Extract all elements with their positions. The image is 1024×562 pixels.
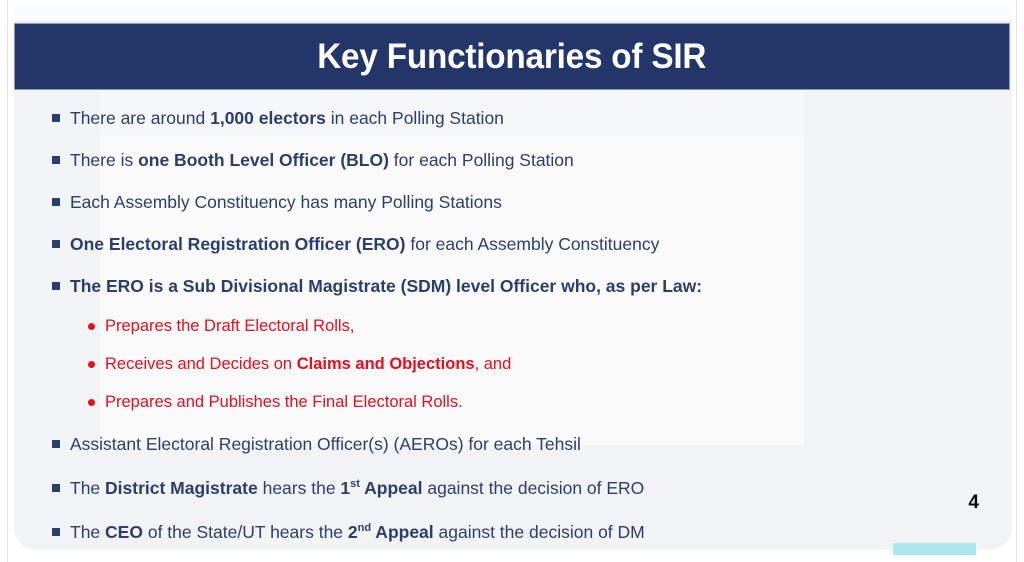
round-bullet-icon (88, 361, 95, 368)
bullet-text: Prepares the Draft Electoral Rolls, (105, 315, 354, 337)
square-bullet-icon (52, 114, 60, 122)
square-bullet-icon (52, 198, 60, 206)
slide-card: Key Functionaries of SIR There are aroun… (14, 5, 1012, 550)
text-segment: for each Assembly Constituency (405, 234, 659, 254)
bullet-item: The District Magistrate hears the 1st Ap… (14, 477, 1010, 501)
text-segment: The ERO is a Sub Divisional Magistrate (… (70, 276, 702, 296)
text-segment: hears the (258, 478, 341, 498)
bullet-text: There is one Booth Level Officer (BLO) f… (70, 149, 574, 171)
square-bullet-icon (52, 240, 60, 248)
text-segment: There is (70, 150, 138, 170)
slide-top-strip (14, 5, 1012, 22)
presentation-viewer: Key Functionaries of SIR There are aroun… (0, 0, 1024, 562)
bullet-text: One Electoral Registration Officer (ERO)… (70, 233, 659, 255)
text-segment: one Booth Level Officer (BLO) (138, 150, 389, 170)
text-segment: One Electoral Registration Officer (ERO) (70, 234, 405, 254)
text-segment: 2 (348, 522, 358, 542)
viewport-left-rule (7, 0, 8, 562)
text-segment: Prepares the Draft Electoral Rolls, (105, 317, 354, 335)
bullet-text: Each Assembly Constituency has many Poll… (70, 191, 502, 213)
text-segment: Appeal (371, 522, 434, 542)
text-segment: There are around (70, 108, 210, 128)
viewport-right-rule (1016, 0, 1017, 562)
text-segment: Claims and Objections (297, 355, 475, 373)
sub-bullet-item: Prepares and Publishes the Final Elector… (14, 391, 1010, 415)
text-segment: Receives and Decides on (105, 355, 297, 373)
text-segment: nd (358, 522, 371, 534)
round-bullet-icon (88, 323, 95, 330)
text-segment: Appeal (360, 478, 423, 498)
square-bullet-icon (52, 440, 60, 448)
bullet-item: One Electoral Registration Officer (ERO)… (14, 233, 1010, 257)
text-segment: CEO (105, 522, 143, 542)
bullet-item: There are around 1,000 electors in each … (14, 107, 1010, 131)
bullet-text: Receives and Decides on Claims and Objec… (105, 353, 511, 375)
bullet-text: Assistant Electoral Registration Officer… (70, 433, 581, 455)
text-segment: against the decision of ERO (423, 478, 645, 498)
slide-title-banner: Key Functionaries of SIR (14, 23, 1010, 90)
text-segment: Each Assembly Constituency has many Poll… (70, 192, 502, 212)
text-segment: Assistant Electoral Registration Officer… (70, 434, 581, 454)
bullet-item: There is one Booth Level Officer (BLO) f… (14, 149, 1010, 173)
bullet-item: The ERO is a Sub Divisional Magistrate (… (14, 275, 1010, 299)
bullet-list: There are around 1,000 electors in each … (14, 91, 1010, 545)
text-segment: District Magistrate (105, 478, 258, 498)
text-segment: against the decision of DM (434, 522, 645, 542)
text-segment: for each Polling Station (389, 150, 574, 170)
text-segment: st (350, 478, 360, 490)
text-segment: 1,000 electors (210, 108, 326, 128)
text-segment: in each Polling Station (326, 108, 504, 128)
square-bullet-icon (52, 484, 60, 492)
square-bullet-icon (52, 282, 60, 290)
sub-bullet-item: Prepares the Draft Electoral Rolls, (14, 315, 1010, 339)
page-title: Key Functionaries of SIR (318, 37, 707, 77)
bullet-item: The CEO of the State/UT hears the 2nd Ap… (14, 521, 1010, 545)
bullet-text: The ERO is a Sub Divisional Magistrate (… (70, 275, 702, 297)
bullet-text: Prepares and Publishes the Final Elector… (105, 391, 463, 413)
text-segment: Prepares and Publishes the Final Elector… (105, 393, 463, 411)
progress-bar-indicator[interactable] (893, 543, 976, 555)
square-bullet-icon (52, 156, 60, 164)
text-segment: , and (475, 355, 512, 373)
text-segment: of the State/UT hears the (143, 522, 348, 542)
text-segment: 1 (340, 478, 350, 498)
bullet-text: There are around 1,000 electors in each … (70, 107, 504, 129)
bullet-text: The District Magistrate hears the 1st Ap… (70, 477, 644, 499)
bullet-item: Each Assembly Constituency has many Poll… (14, 191, 1010, 215)
sub-bullet-item: Receives and Decides on Claims and Objec… (14, 353, 1010, 377)
slide-page-number: 4 (968, 492, 979, 514)
bullet-text: The CEO of the State/UT hears the 2nd Ap… (70, 521, 645, 543)
round-bullet-icon (88, 399, 95, 406)
text-segment: The (70, 478, 105, 498)
bullet-item: Assistant Electoral Registration Officer… (14, 433, 1010, 457)
square-bullet-icon (52, 528, 60, 536)
text-segment: The (70, 522, 105, 542)
